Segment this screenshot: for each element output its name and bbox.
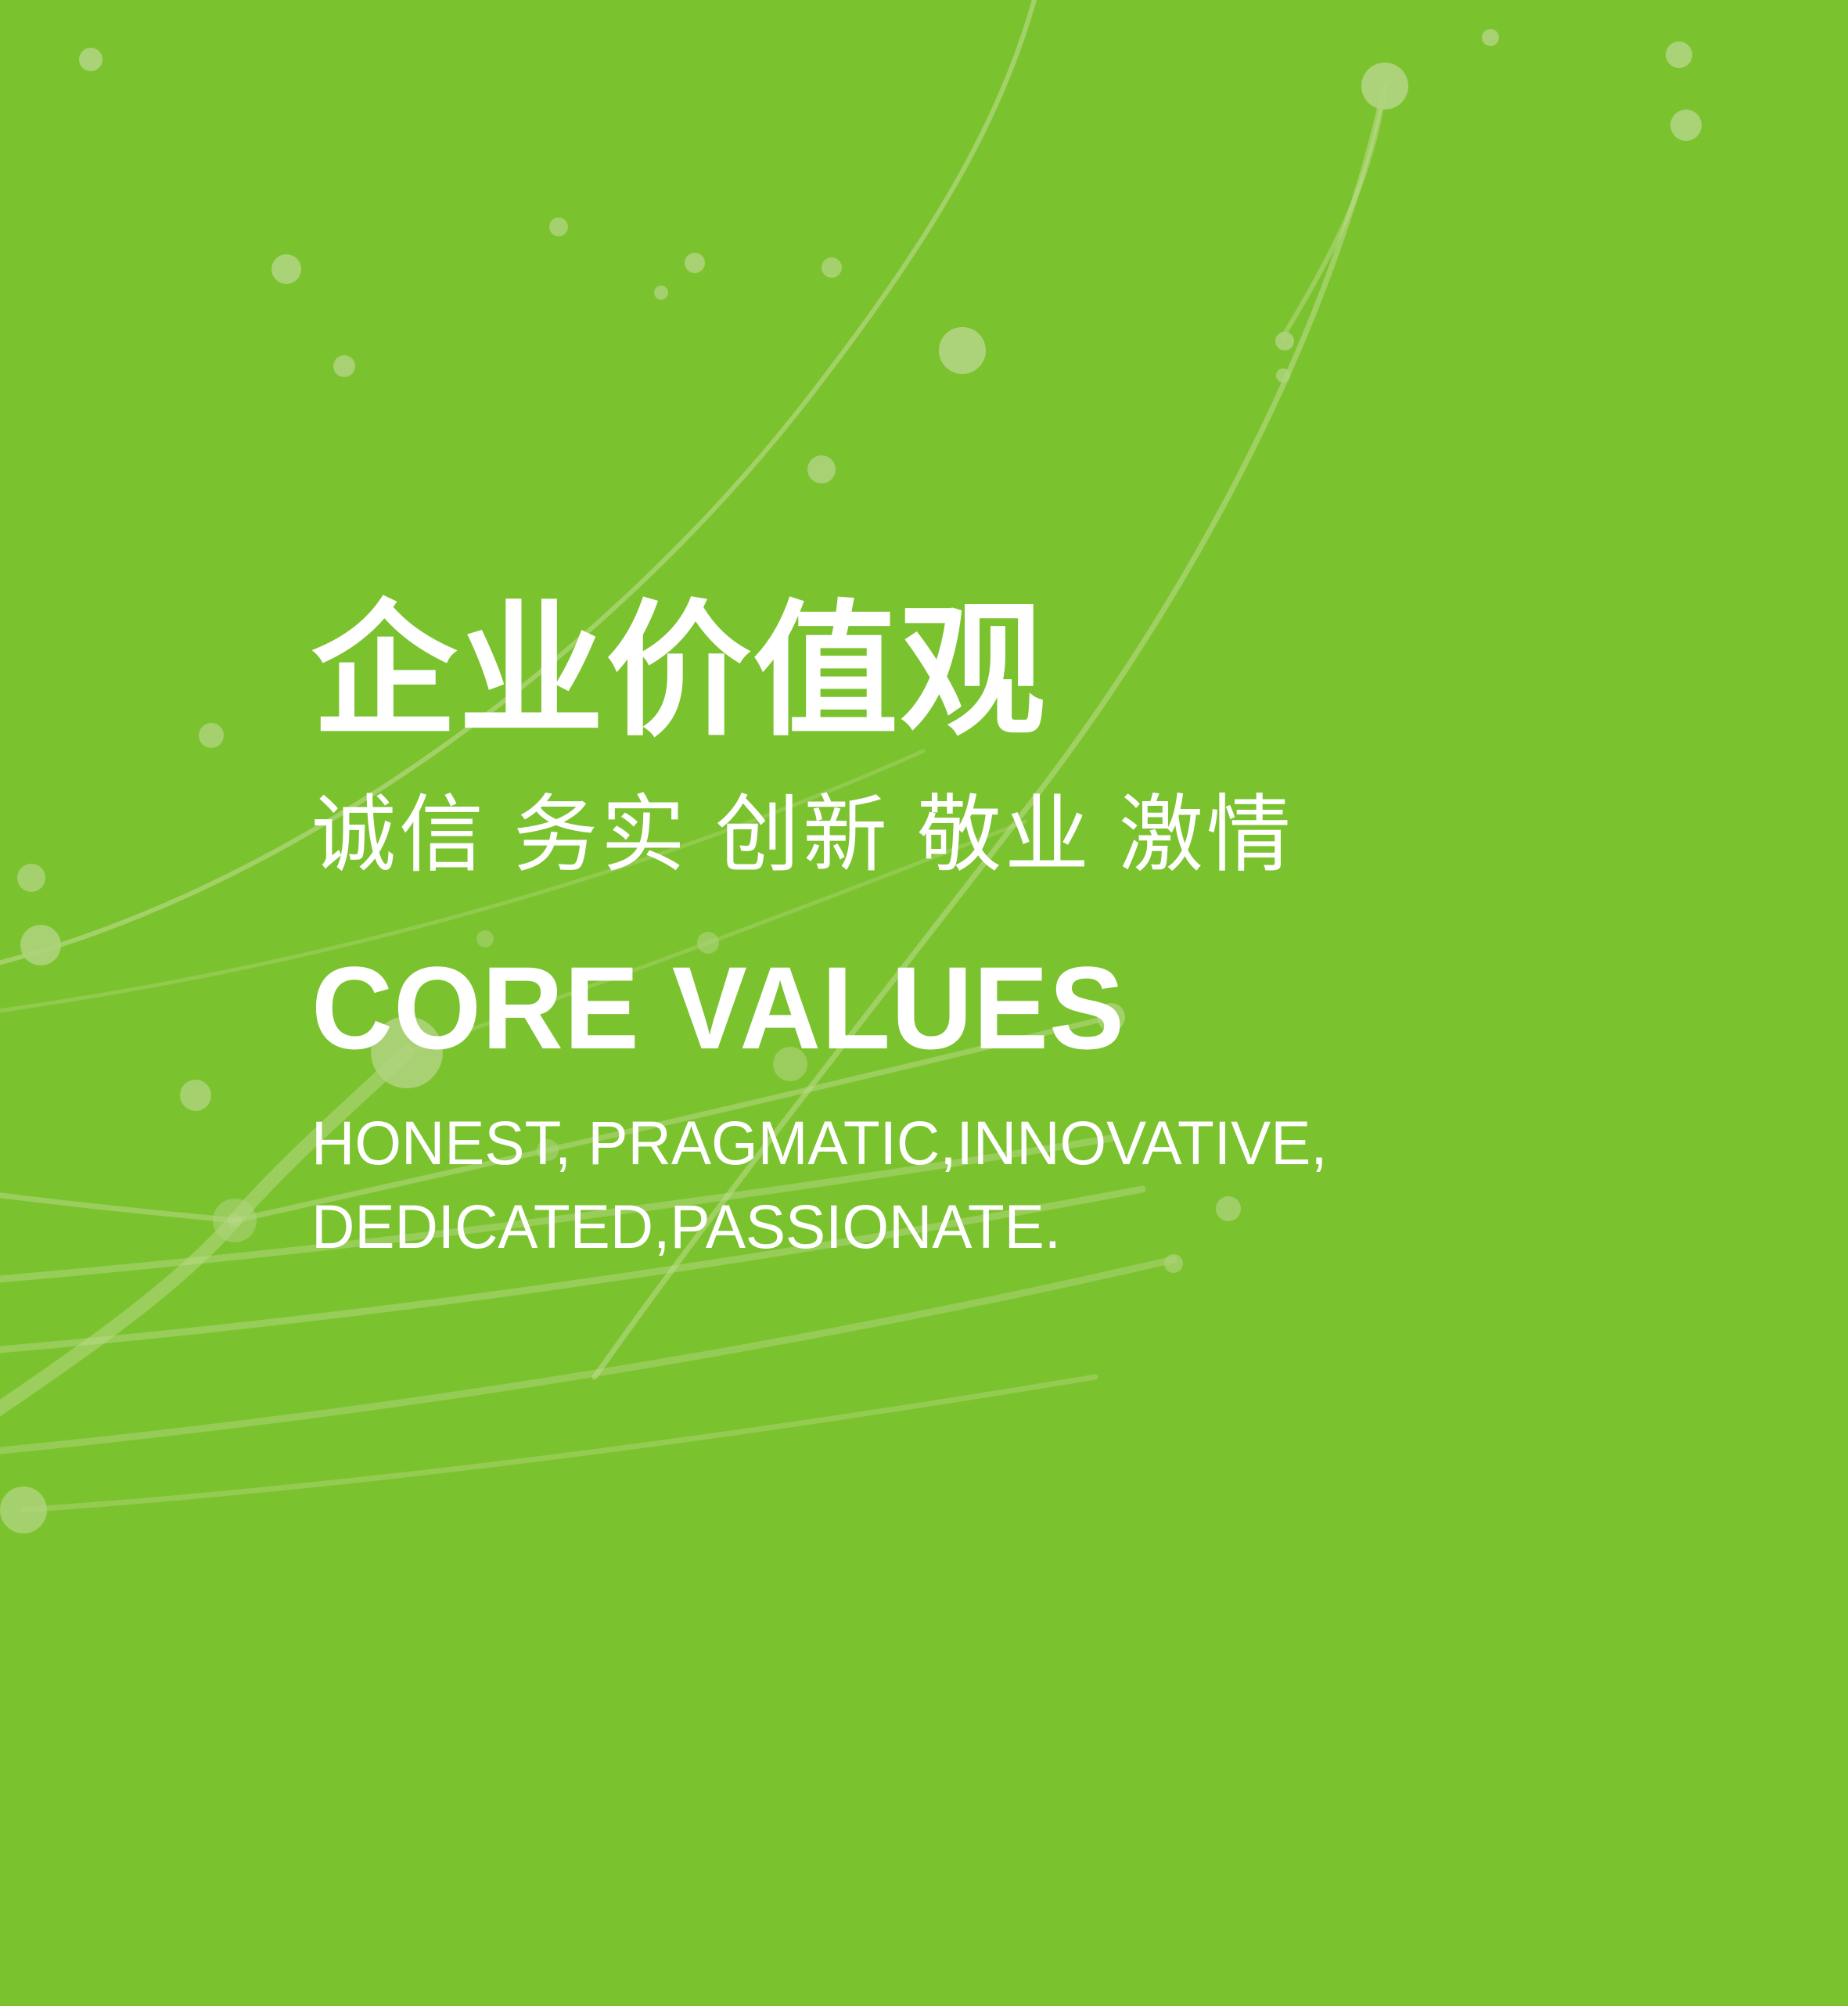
subtitle-chinese: 诚信 务实 创新 敬业 激情 xyxy=(311,785,1688,884)
content-block: 企业价值观 诚信 务实 创新 敬业 激情 CORE VALUES HONEST,… xyxy=(311,595,1688,1268)
page-title-english: CORE VALUES xyxy=(311,949,1634,1066)
page-title-chinese: 企业价值观 xyxy=(311,595,1688,749)
subtitle-english-line-2: DEDICATED,PASSIONATE. xyxy=(311,1185,1647,1268)
subtitle-english-line-1: HONEST, PRAGMATIC,INNOVATIVE, xyxy=(311,1101,1647,1185)
core-values-poster: 企业价值观 诚信 务实 创新 敬业 激情 CORE VALUES HONEST,… xyxy=(0,0,1848,2006)
